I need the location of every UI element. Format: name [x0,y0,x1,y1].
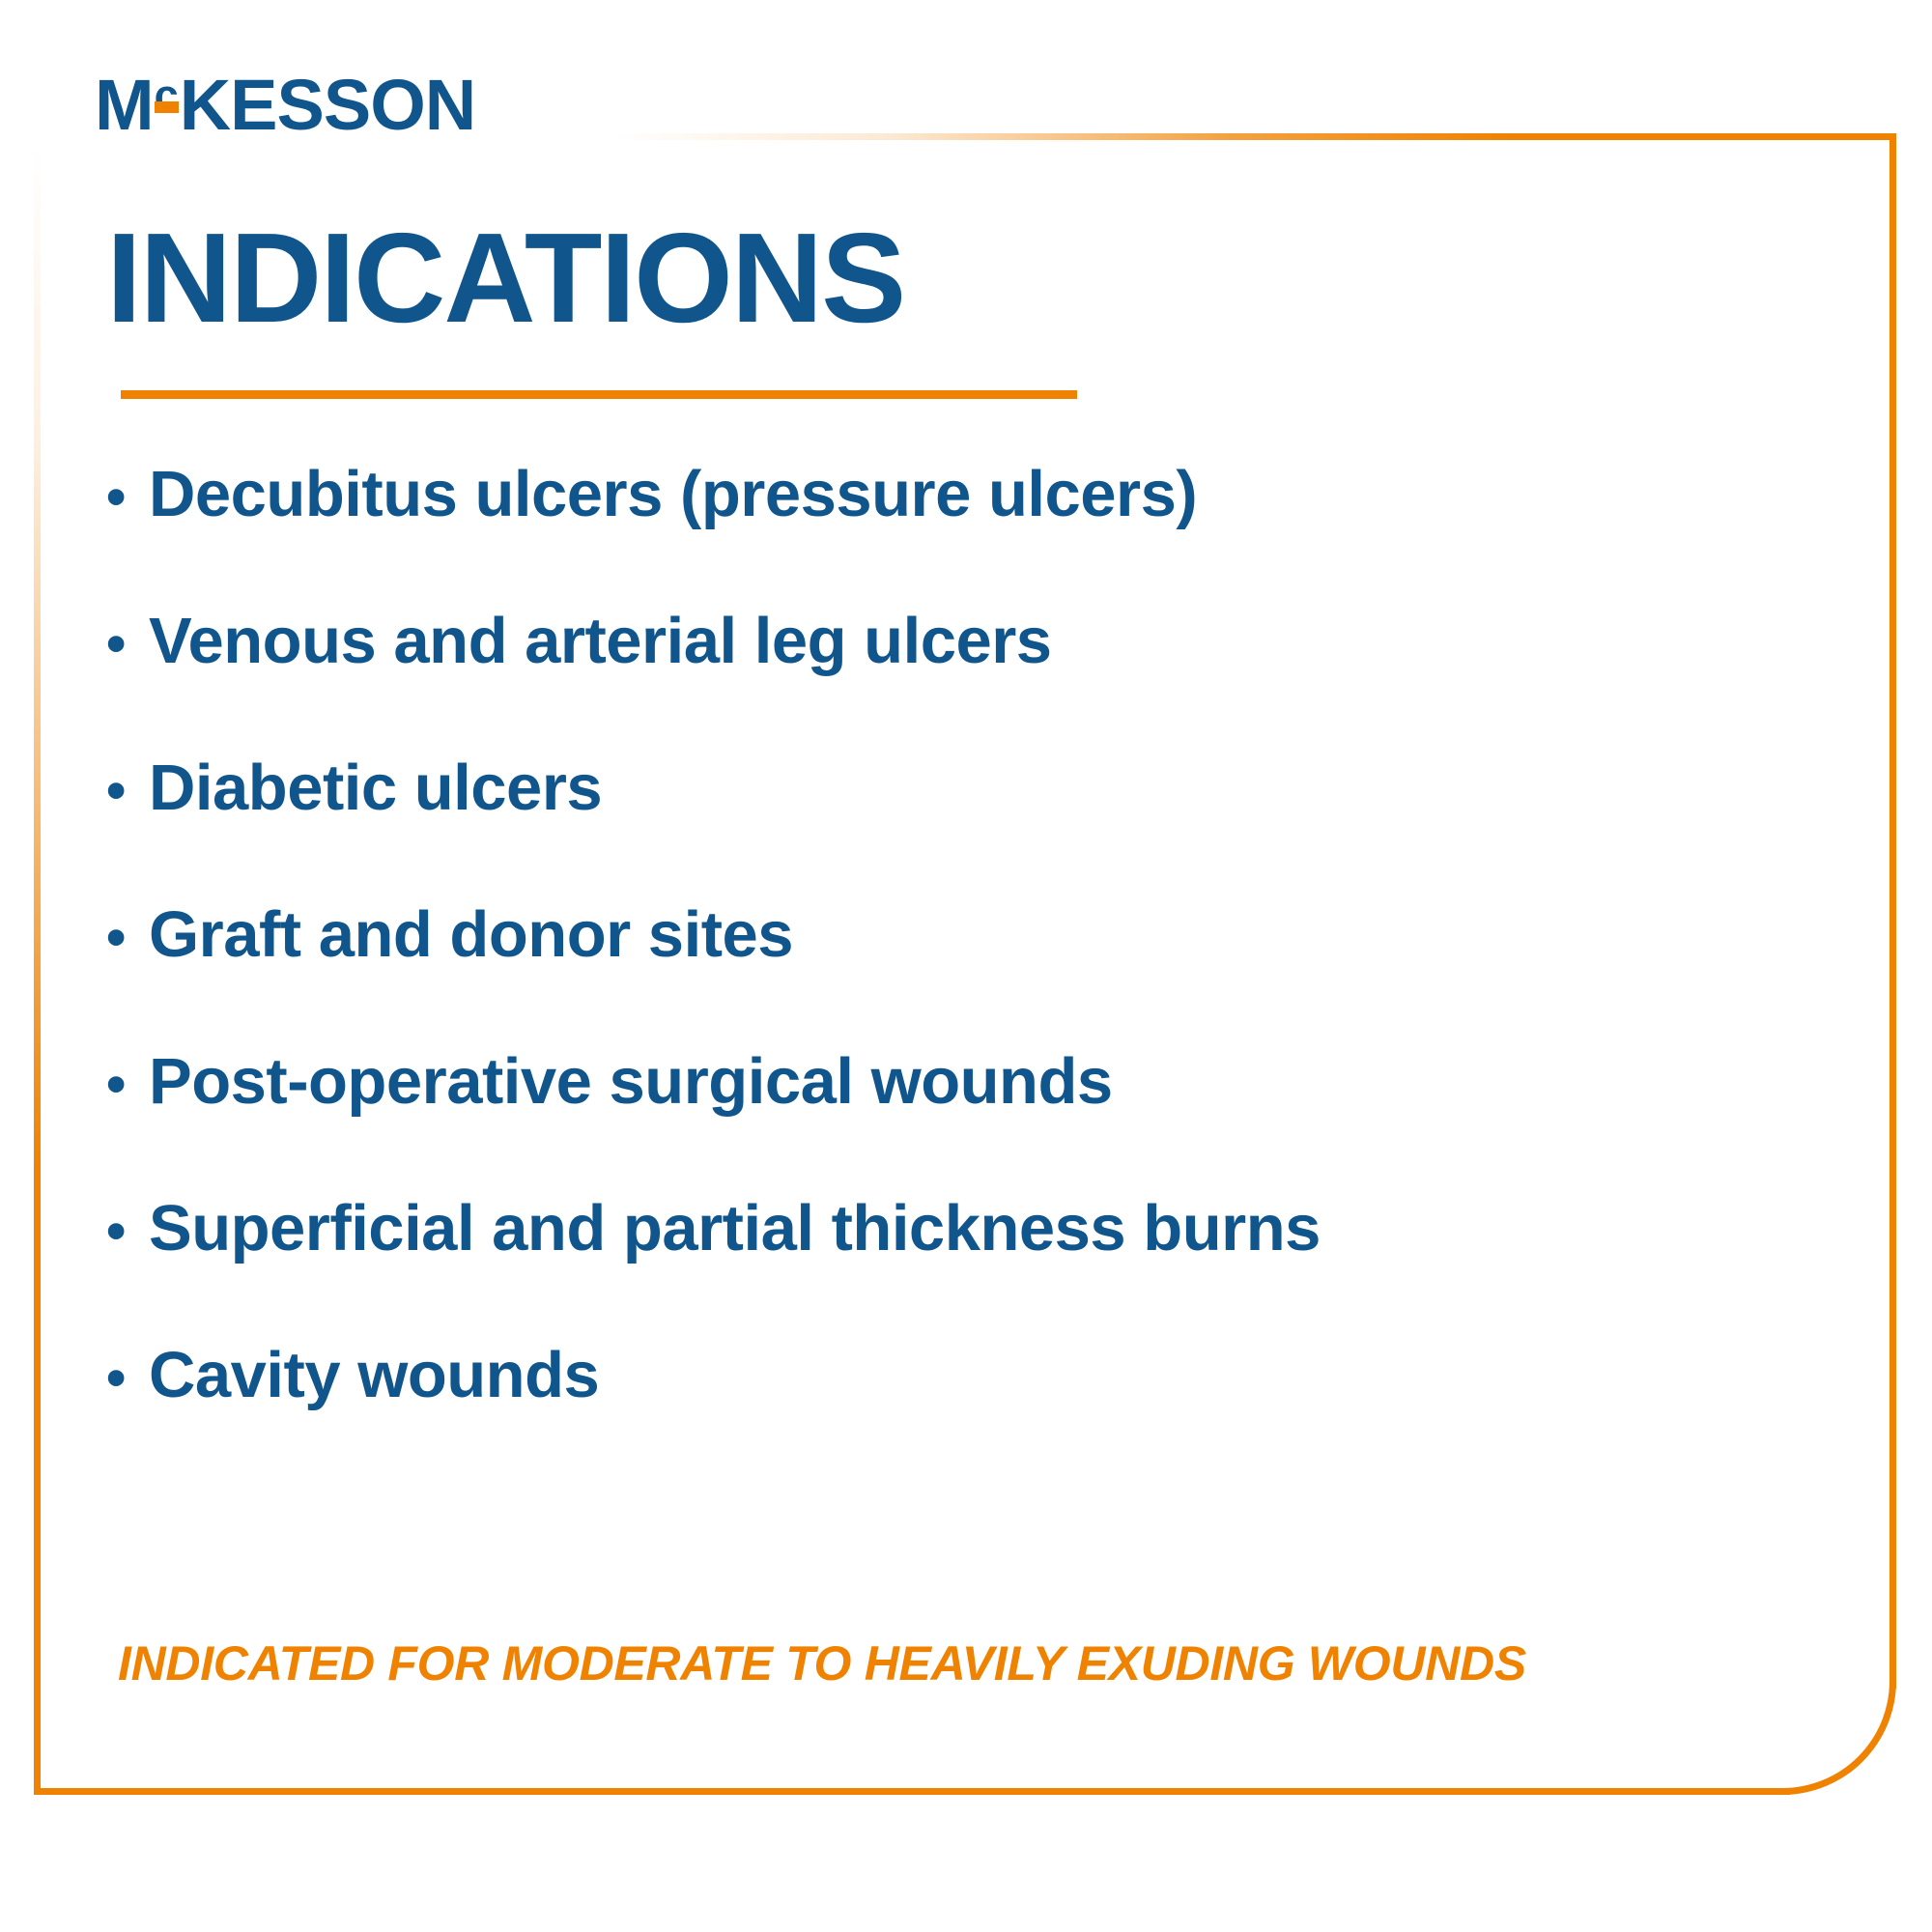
frame-right-edge [1889,133,1896,1689]
frame-bottom-right-corner-arc [1782,1681,1896,1795]
list-item: • Diabetic ulcers [106,755,1845,902]
logo-superscript-c-group: c [155,70,179,117]
logo-letter-m: M [95,70,154,141]
list-item-label: Diabetic ulcers [149,755,602,820]
bullet-dot-icon: • [106,1057,149,1113]
bullet-dot-icon: • [106,763,149,819]
bullet-dot-icon: • [106,1204,149,1260]
list-item: • Graft and donor sites [106,902,1845,1049]
list-item-label: Graft and donor sites [149,902,793,967]
logo-orange-underbar-icon [155,101,179,113]
frame-top-edge [613,133,1896,140]
bullet-dot-icon: • [106,910,149,966]
list-item-label: Superficial and partial thickness burns [149,1196,1321,1261]
mckesson-logo: M c KESSON [95,70,475,141]
list-item: • Post-operative surgical wounds [106,1049,1845,1196]
footnote-text: INDICATED FOR MODERATE TO HEAVILY EXUDIN… [118,1639,1526,1688]
frame-left-edge [34,143,41,1795]
indications-card: M c KESSON INDICATIONS • Decubitus ulcer… [0,0,1932,1932]
bullet-dot-icon: • [106,1350,149,1406]
list-item: • Cavity wounds [106,1343,1845,1490]
list-item-label: Decubitus ulcers (pressure ulcers) [149,462,1197,526]
bullet-dot-icon: • [106,469,149,526]
frame-bottom-edge [34,1788,1790,1795]
list-item-label: Cavity wounds [149,1343,599,1407]
list-item-label: Venous and arterial leg ulcers [149,609,1052,673]
bullet-dot-icon: • [106,616,149,672]
page-title: INDICATIONS [106,214,904,342]
indications-list: • Decubitus ulcers (pressure ulcers) • V… [106,462,1845,1490]
list-item-label: Post-operative surgical wounds [149,1049,1113,1114]
list-item: • Venous and arterial leg ulcers [106,609,1845,755]
logo-word-kesson: KESSON [180,70,476,141]
list-item: • Decubitus ulcers (pressure ulcers) [106,462,1845,609]
title-underline-rule [121,390,1077,399]
list-item: • Superficial and partial thickness burn… [106,1196,1845,1343]
